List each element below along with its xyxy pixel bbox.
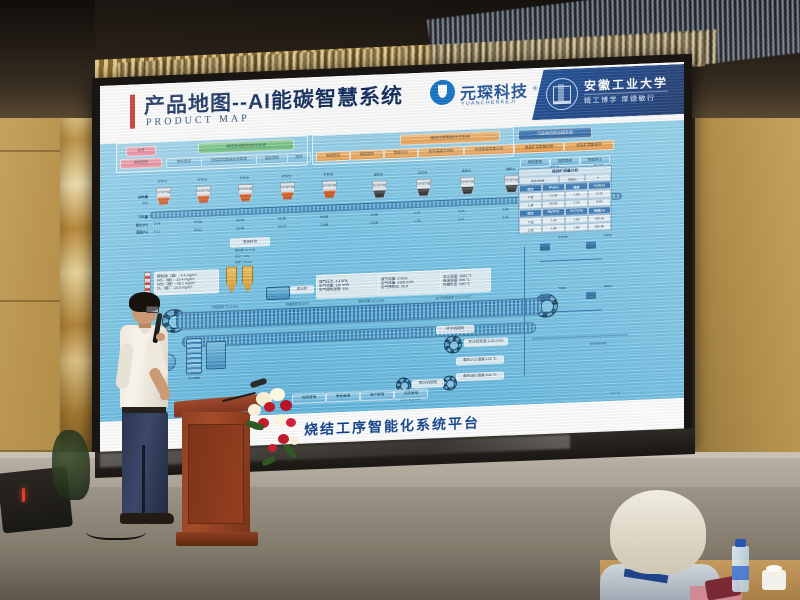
qt-b-r0-c2: 1.85 [565,215,588,224]
cooler-gear-icon [444,335,462,354]
bin-3-ratio: 55.86 [278,216,286,220]
nav-item-wind-temp[interactable]: 烧风温度与烧结 [418,146,464,158]
row-label-discharge: 下料量 [108,216,148,222]
bin-1[interactable]: 矿料仓 134.06 [196,186,209,205]
btn-role-mgmt[interactable]: 角色管理 [326,391,360,402]
sinter-param-1: 机速控制 26.8 t/h [286,301,309,306]
bin-1-value: 134.06 [196,190,209,195]
sinter-param-1-value: 26.8 t/h [299,301,309,305]
bin-3-name: 矿料仓 [282,174,292,178]
bin-10-value: 424.7 [592,175,605,180]
ignition-left-1: 空气流量: 110 m³/h [319,284,349,289]
emission-row-3-name: O₂（烟） [157,286,172,291]
ignition-temp-2: 风箱负压: 940 ℃ [443,283,470,288]
nav-item-tail-section-recognition[interactable]: 机尾断面智能识别 [464,144,514,156]
return-conveyor [182,322,536,348]
sinter-param-3-label: BTP位置温度 [436,295,454,300]
table-row: 上班 1.88 1.86 485.86 [519,222,611,234]
cooler-item-0-value: 1.08 r/min [487,340,503,344]
quality-table-header-a: 班次 TFe(%) 碱度 FeO(%) [519,181,611,193]
row-label-moisture: 湿度(%) [108,231,148,237]
qt-b-r1-c2: 1.86 [565,223,588,232]
scr-unit [186,338,202,375]
bin-0-body [156,192,171,206]
table-row: 下班 1.58 1.85 486.66 [519,214,611,226]
emission-row-0: 颗粒物（烟）: 4.4 mg/m³ [157,274,197,279]
presenter-shoe-right [144,513,174,524]
flow-node-1 [586,242,596,249]
bin-3-value: 336.08 [280,186,293,191]
nav-item-inventory[interactable]: 物料库存 [166,157,202,168]
quality-selector-extra: ▾ [585,173,611,182]
bin-8-name: 煤粉仓 [506,167,516,171]
bin-0-moisture: 6.11 [154,230,160,234]
scr-label: SCR脱硝 [188,376,200,380]
quality-table-title: 成品矿质量分析 [519,166,611,177]
led-screen[interactable]: 产品地图--AI能碳智慧系统 PRODUCT MAP 元琛科技 ® YUANCH… [100,62,684,454]
cooler-title: 环冷机控制 [436,325,474,335]
bin-6-moisture: 1.78 [414,219,420,223]
podium [180,398,254,548]
emission-row-3: O₂（烟）: 15.8 mg/m³ [157,286,192,291]
nav-item-finished-material[interactable]: 成品原料 [256,153,288,164]
emission-row-3-value: 15.8 mg/m³ [174,285,192,290]
presenter-leg-split [142,445,145,515]
flow-trunk [524,247,525,377]
cooler-fan-label: 鼓风机控制 [412,379,444,388]
bin-8[interactable]: 煤粉仓 275.48 [504,175,517,194]
bin-7-ratio: 4.23 [458,209,464,213]
cooler-item-1-value: 125 ℃ [486,358,497,362]
quality-table[interactable]: 成品矿质量分析 班次/时间： 当班/2 ▾ 班次 TFe(%) 碱度 FeO(%… [518,165,612,235]
qt-a-r1-c3: 8.85 [588,198,611,207]
qt-col-b-2: Al₂O₃(%) [565,207,588,216]
btn-system-mgmt[interactable]: 系统管理 [394,389,428,400]
table-row: 上班 56.85 1.24 8.85 [519,198,611,210]
qt-col-b-1: MgO(%) [542,208,565,217]
bin-6-name: 白灰仓 [418,171,428,175]
flow-label-0: 余热锅炉 [558,235,568,239]
nav-banner-process-optimization[interactable]: 烧结过程智能优化系统 [400,131,500,146]
qt-b-r1-c1: 1.88 [542,224,565,233]
university-motto: 精工博学 厚德敏行 [584,91,668,106]
emission-row-2-value: 58.1 mg/m³ [177,281,195,286]
qt-b-r0-c0: 下班 [519,217,542,226]
presenter-belt [122,407,166,413]
sinter-strand-belt [176,298,542,330]
sinter-param-0-label: 料层厚度 [212,305,224,309]
emission-readout: 颗粒物（烟）: 4.4 mg/m³ SO₂（烟）: 23.4 mg/m³ NOx… [154,269,219,296]
collecting-conveyor [150,193,622,219]
mixing-value-0: 配料量: 87.6 t/h [235,248,255,253]
sinter-param-2-label: 混合料量 [358,299,370,303]
podium-front-panel [188,424,244,524]
title-accent-bar [130,95,135,129]
ignition-left-block: 煤气压力: 4.4 kPa 空气流量: 110 m³/h 空气预热温度: 154 [316,273,379,300]
ignition-temp-0: 点火温度: 1082 ℃ [443,275,472,280]
quality-table-header-b: 班次 MgO(%) Al₂O₃(%) 转鼓(%) [519,206,611,218]
bin-2-ratio: 55.60 [236,218,244,222]
bin-1-moisture: 58.42 [194,228,202,232]
qt-col-a-2: 碱度 [565,182,588,191]
teacup [762,570,786,590]
bin-0-cap [156,187,171,193]
cooler-item-1-label: 鼓风入口温度 [463,358,485,363]
bin-9-moisture: 7.43 [546,213,552,217]
slide-footer-title: 烧结工序智能化系统平台 [304,412,480,439]
presenter-hand-holding-mic [156,333,165,341]
indicator-light [22,488,25,502]
nav-button-overview[interactable]: 总览 [126,146,156,157]
company-logo-mark [430,79,455,105]
bin-10-ratio: 1.08 [590,204,596,208]
bin-2[interactable]: 矿料仓 450.06 [238,184,251,203]
bin-4-value: 289.45 [322,184,335,189]
nav-item-finished-ore-control[interactable]: 成品矿化智能控制 [514,142,564,154]
bin-0-name: 矿料仓 [158,179,168,183]
qt-b-r0-c3: 486.66 [588,214,611,223]
presenter-glasses [146,306,159,313]
bin-6[interactable]: 白灰仓 134.66 [416,178,429,197]
sinter-param-0: 料层厚度 772.2 mm [212,304,238,309]
nav-group-box-left [116,135,308,173]
fan-gear-left-icon [396,377,411,393]
fan-gear-right-icon [442,375,457,391]
flow-label-3: 发电机 [604,284,612,288]
bin-5[interactable]: 熔剂仓 175.56 [372,180,385,199]
sinter-param-3: BTP位置温度 73.5 m³/h/℃ [436,295,472,300]
nav-item-raw-material-mgmt[interactable]: 烧结原料数据在线管理 [201,155,257,167]
cooler-item-0-label: 环冷机转速 [469,340,487,345]
sinter-param-2: 混合料量 147.6 mm [358,298,384,303]
sinter-param-0-value: 772.2 mm [225,304,238,309]
bin-5-name: 熔剂仓 [374,172,384,176]
sinter-param-2-value: 147.6 mm [371,298,384,303]
emission-row-0-value: 4.4 mg/m³ [181,273,197,278]
flower-arrangement [238,388,308,484]
bin-0-ratio: 0.06 [154,222,160,226]
qt-a-r1-c0: 上班 [519,200,542,209]
ignition-right-1: 空气流量: 4105 m³/h [381,281,414,286]
qt-b-r1-c0: 上班 [519,225,542,234]
bin-7-value: 124.46 [460,181,473,186]
bin-7-moisture: 4.27 [458,217,464,221]
bin-9[interactable]: 返矿仓 41.46 [548,173,561,192]
bin-9-name: 返矿仓 [550,165,560,169]
bin-7-name: 焦粉仓 [462,169,472,173]
quality-selector-value: 当班/2 [559,174,585,183]
slide-watermark: 元琛科技 [610,391,620,395]
qt-a-r0-c1: 57.58 [542,191,565,200]
sinter-param-3-value: 73.5 m³/h/℃ [455,295,472,300]
hopper-left [226,266,237,292]
ignition-furnace [266,286,290,300]
flow-label-2: 汽轮机 [558,286,566,290]
emission-row-2: NOx（烟）: 58.1 mg/m³ [157,282,195,287]
bin-10-name: 除尘灰 [594,163,604,167]
bin-6-value: 134.66 [416,182,429,187]
bin-1-ratio: 55.60 [194,220,202,224]
mixing-value-1: 水分: 7.2% [235,254,249,259]
cooler-item-2: 鼓风出口温度: 543 ℃ [456,371,504,381]
bin-5-moisture: 13.08 [370,221,378,225]
sinter-param-1-label: 机速控制 [286,302,298,306]
slide-title-cn: 产品地图--AI能碳智慧系统 [144,80,403,121]
table-row: 下班 57.58 1.85 8.28 [519,189,611,201]
nav-banner-batching-system[interactable]: 烧结自动配料优化系统 [198,139,294,154]
bin-10-moisture: 1.09 [590,212,596,216]
bottle-cap [735,539,746,547]
flow-link-b [540,309,602,312]
mixing-value-2: 粒度: 3.8 mm [235,260,252,265]
qt-a-r1-c2: 1.24 [565,199,588,208]
bin-4-name: 矿料仓 [324,172,334,176]
flow-node-0 [540,244,550,251]
label-ignition-furnace: 点火炉 [290,285,314,294]
qt-a-r0-c3: 8.28 [588,189,611,198]
presenter-trousers [122,411,168,515]
bin-4-moisture: 74.86 [320,223,328,227]
bin-8-value: 275.48 [504,179,517,184]
cooler-item-0: 环冷机转速: 1.08 r/min [464,337,508,347]
nav-item-quality-prediction[interactable]: 成品矿质量预测 [564,140,614,152]
qt-col-a-3: FeO(%) [588,181,611,190]
company-logo: 元琛科技 ® YUANCHENKEJI [430,76,537,105]
qt-b-r0-c1: 1.58 [542,216,565,225]
university-seal-icon [546,77,578,110]
flow-link-a [540,258,602,261]
audience-hair [610,490,706,574]
flow-panel-title: 余热回收系统 [590,341,607,346]
flow-link-c [532,334,628,339]
teacup-lid [766,565,782,572]
bin-4-ratio: 55.66 [320,215,328,219]
flow-node-3 [586,292,596,299]
emission-row-0-name: 颗粒物（烟） [157,274,179,279]
nav-item-stock[interactable]: 库存 [287,152,311,163]
ignition-left-2: 空气预热温度: 154 [319,288,349,293]
bin-8-ratio: 4.66 [502,207,508,211]
ignition-right-2: 空气预热比: 26.9 [381,285,408,290]
nav-item-smart-mix[interactable]: 智能配合 [316,151,350,162]
water-bottle [732,546,749,592]
bin-3[interactable]: 矿料仓 336.08 [280,182,293,201]
bottle-label [732,566,749,580]
bin-10[interactable]: 除尘灰 424.7 [592,171,605,190]
ignition-temp-1: 保温温度: 895 ℃ [443,279,470,284]
ignition-left-0: 煤气压力: 4.4 kPa [319,280,348,285]
nav-item-smart-ignition[interactable]: 智能点火 [384,148,418,159]
bin-4[interactable]: 矿料仓 289.45 [322,180,335,199]
qt-col-b-0: 班次 [519,209,542,218]
scada-diagram: 总览 智能配料 烧结自动配料优化系统 物料库存 烧结原料数据在线管理 成品原料 … [100,120,684,422]
quality-selector-label: 班次/时间： [519,175,559,185]
qt-col-b-3: 转鼓(%) [588,206,611,215]
cooler-bottom-label: 成品矿输送系统 [400,397,420,402]
qt-a-r1-c1: 56.85 [542,199,565,208]
microphone-head-icon [249,378,267,389]
nav-item-dust-removal[interactable]: 智能除尘 [580,155,610,165]
presenter [110,295,180,540]
cooler-item-2-label: 鼓风出口温度 [463,374,485,379]
cooler-item-1: 鼓风入口温度: 125 ℃ [456,355,504,365]
conference-hall-photo: 产品地图--AI能碳智慧系统 PRODUCT MAP 元琛科技 ® YUANCH… [0,0,800,600]
emission-row-2-name: NOx（烟） [157,282,175,287]
nav-banner-pollution-control[interactable]: 污染物协同治理系统 [518,127,592,141]
emission-row-1-name: SO₂（烟） [157,278,174,283]
bin-2-name: 矿料仓 [240,176,250,180]
qt-col-a-0: 班次 [519,184,542,193]
row-label-ratio: 配比(%) [108,224,148,230]
emission-row-1: SO₂（烟）: 23.4 mg/m³ [157,278,195,283]
label-mixing-bin: 混合料仓 [230,237,270,248]
company-logo-pinyin: YUANCHENKEJI [461,99,517,107]
decor-plant [52,430,90,500]
btn-user-mgmt[interactable]: 用户管理 [360,390,394,401]
sinter-drive-gear-right [534,293,558,318]
bin-7[interactable]: 焦粉仓 124.46 [460,177,473,196]
flow-label-1: 除氧器 [604,233,612,237]
qt-col-a-1: TFe(%) [542,183,565,192]
row-label-total-feed: 总料量 [108,196,148,202]
qt-b-r1-c3: 485.86 [588,222,611,231]
podium-base [176,532,258,546]
presentation-slide: 产品地图--AI能碳智慧系统 PRODUCT MAP 元琛科技 ® YUANCH… [100,62,684,454]
nav-item-denitrification[interactable]: 智能脱硝 [550,156,580,166]
bin-0-value: 236.85 [156,191,169,196]
bin-0[interactable]: 矿料仓 236.85 [156,187,169,206]
bin-8-moisture: 4.66 [502,215,508,219]
bin-2-value: 450.06 [238,188,251,193]
nav-item-desulfurization[interactable]: 智能脱硫 [520,158,550,168]
ignition-right-block: 煤气流量: 9.45% 空气流量: 4105 m³/h 空气预热比: 26.9 [378,270,441,297]
bin-6-ratio: 1.74 [414,211,420,215]
bin-1-name: 矿料仓 [198,178,208,182]
nav-button-smart-batching[interactable]: 智能配料 [120,157,162,169]
presenter-hand [160,391,170,400]
bag-filter-unit [206,341,226,370]
ignition-temp-block: 点火温度: 1082 ℃ 保温温度: 895 ℃ 风箱负压: 940 ℃ [440,268,491,294]
university-logo: 安徽工业大学 精工博学 厚德敏行 [532,63,684,120]
bin-9-value: 41.46 [548,177,561,182]
registered-mark-icon: ® [533,86,537,92]
quality-table-selector[interactable]: 班次/时间： 当班/2 ▾ [519,173,611,185]
emission-row-1-value: 23.4 mg/m³ [176,277,194,282]
row-label-total-feed-unit: (t/h) [108,202,148,208]
ignition-right-0: 煤气流量: 9.45% [381,278,408,283]
qt-a-r0-c0: 下班 [519,192,542,201]
cooler-item-2-value: 543 ℃ [486,374,497,378]
bin-5-ratio: 10.86 [370,213,378,217]
flow-node-2 [540,294,550,301]
nav-item-smart-batching[interactable]: 智能配料 [350,149,384,160]
qt-a-r0-c2: 1.85 [565,190,588,199]
bin-9-ratio: 7.46 [546,205,552,209]
bin-3-moisture: 63.75 [278,224,286,228]
hopper-right [242,266,253,292]
bin-2-moisture: 59.86 [236,226,244,230]
bin-5-value: 175.56 [372,184,385,189]
